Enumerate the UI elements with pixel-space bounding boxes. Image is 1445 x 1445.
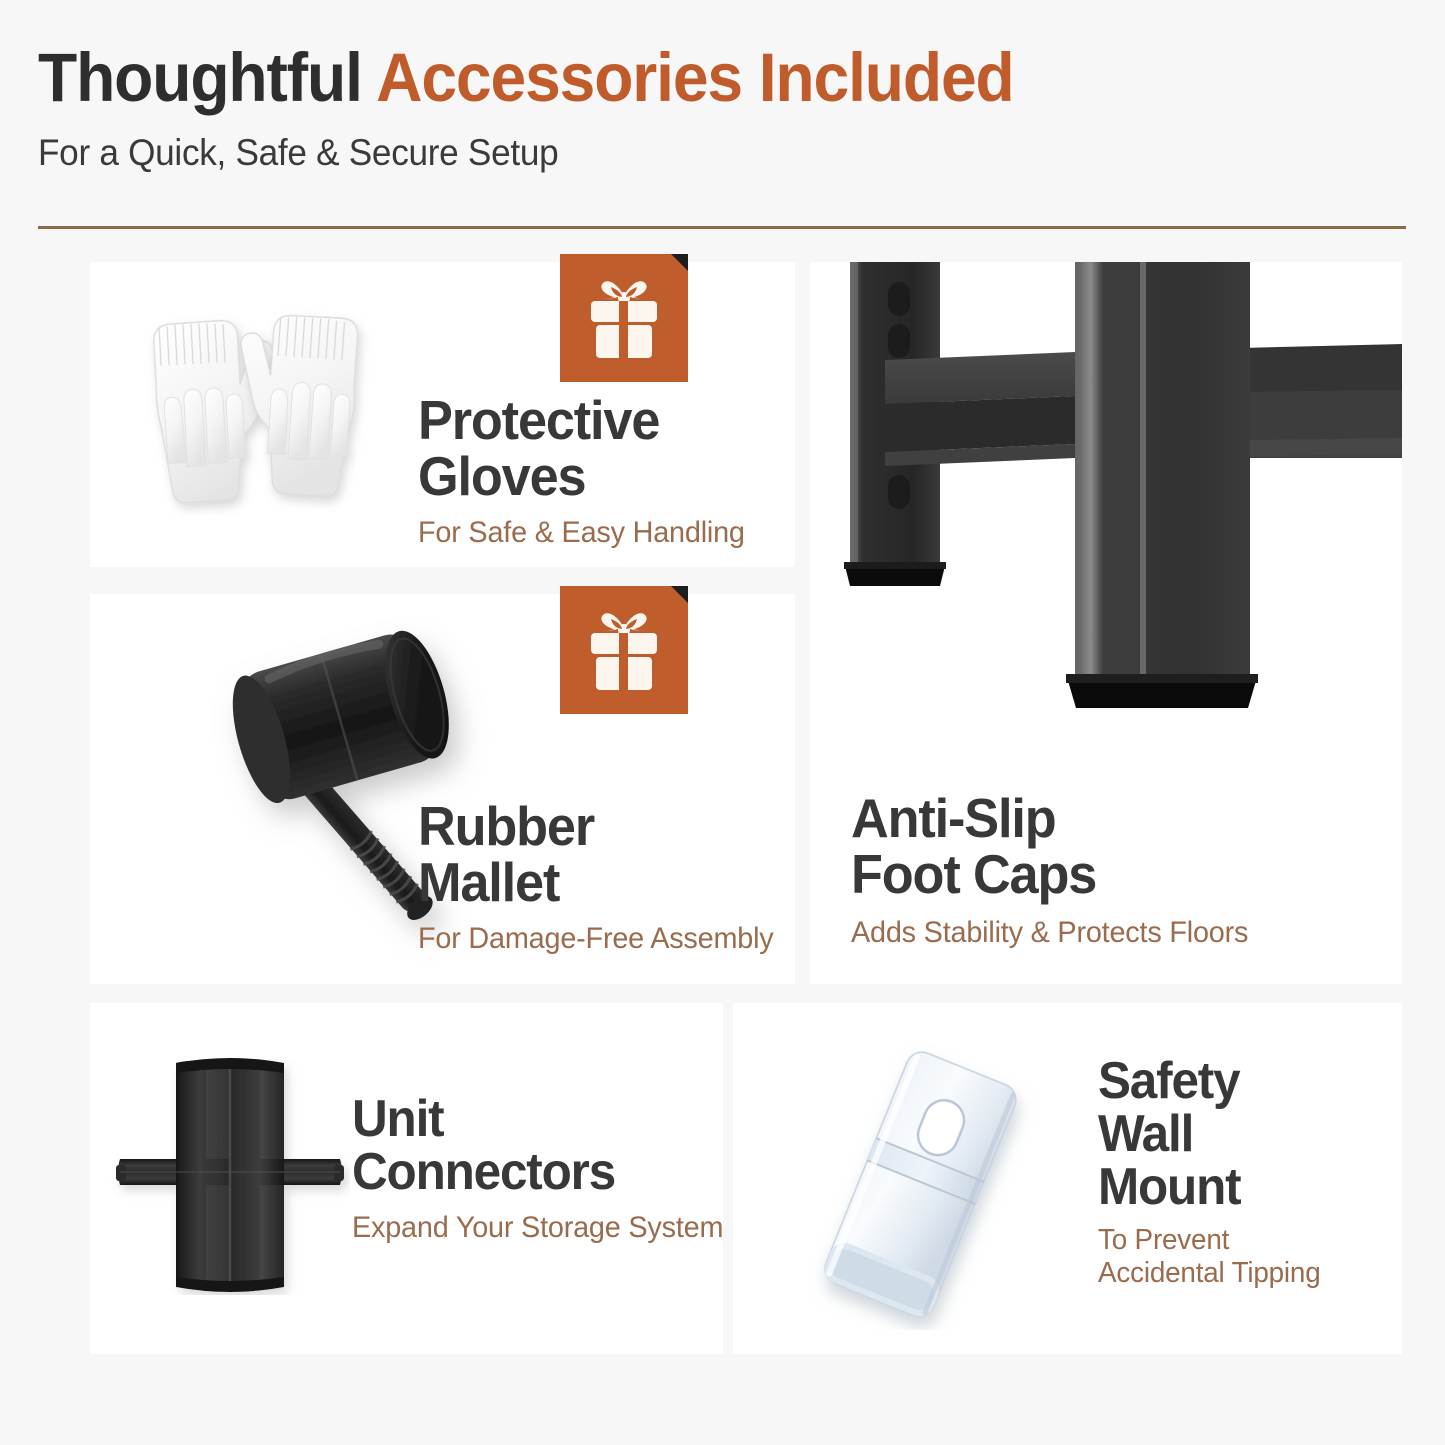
text-unit-connectors: Unit Connectors Expand Your Storage Syst… xyxy=(352,1093,739,1245)
gift-badge-mallet xyxy=(560,586,688,714)
text-protective-gloves: Protective Gloves For Safe & Easy Handli… xyxy=(418,392,758,550)
card-title-anti-slip-foot-caps: Anti-Slip Foot Caps xyxy=(851,790,1244,902)
badge-fold-icon xyxy=(671,586,688,603)
wall-mount-image xyxy=(770,1040,1070,1330)
card-title-protective-gloves: Protective Gloves xyxy=(418,392,741,504)
card-subtitle-unit-connectors: Expand Your Storage System xyxy=(352,1211,723,1245)
card-subtitle-anti-slip-foot-caps: Adds Stability & Protects Floors xyxy=(851,916,1248,950)
card-title-rubber-mallet: Rubber Mallet xyxy=(418,798,770,910)
gloves-image xyxy=(120,300,410,550)
card-subtitle-safety-wall-mount: To Prevent Accidental Tipping xyxy=(1098,1224,1321,1289)
card-title-unit-connectors: Unit Connectors xyxy=(352,1093,719,1199)
gift-icon xyxy=(581,606,667,694)
text-anti-slip-foot-caps: Anti-Slip Foot Caps Adds Stability & Pro… xyxy=(851,790,1265,950)
card-subtitle-protective-gloves: For Safe & Easy Handling xyxy=(418,516,745,550)
foot-caps-image xyxy=(810,262,1402,772)
gift-badge-gloves xyxy=(560,254,688,382)
badge-fold-icon xyxy=(671,254,688,271)
text-safety-wall-mount: Safety Wall Mount To Prevent Accidental … xyxy=(1098,1055,1330,1289)
card-title-safety-wall-mount: Safety Wall Mount xyxy=(1098,1055,1318,1214)
card-subtitle-rubber-mallet: For Damage-Free Assembly xyxy=(418,922,774,956)
text-rubber-mallet: Rubber Mallet For Damage-Free Assembly xyxy=(418,798,788,956)
unit-connector-image xyxy=(110,1055,350,1295)
gift-icon xyxy=(581,274,667,362)
accessory-card-grid: Protective Gloves For Safe & Easy Handli… xyxy=(0,0,1445,1445)
